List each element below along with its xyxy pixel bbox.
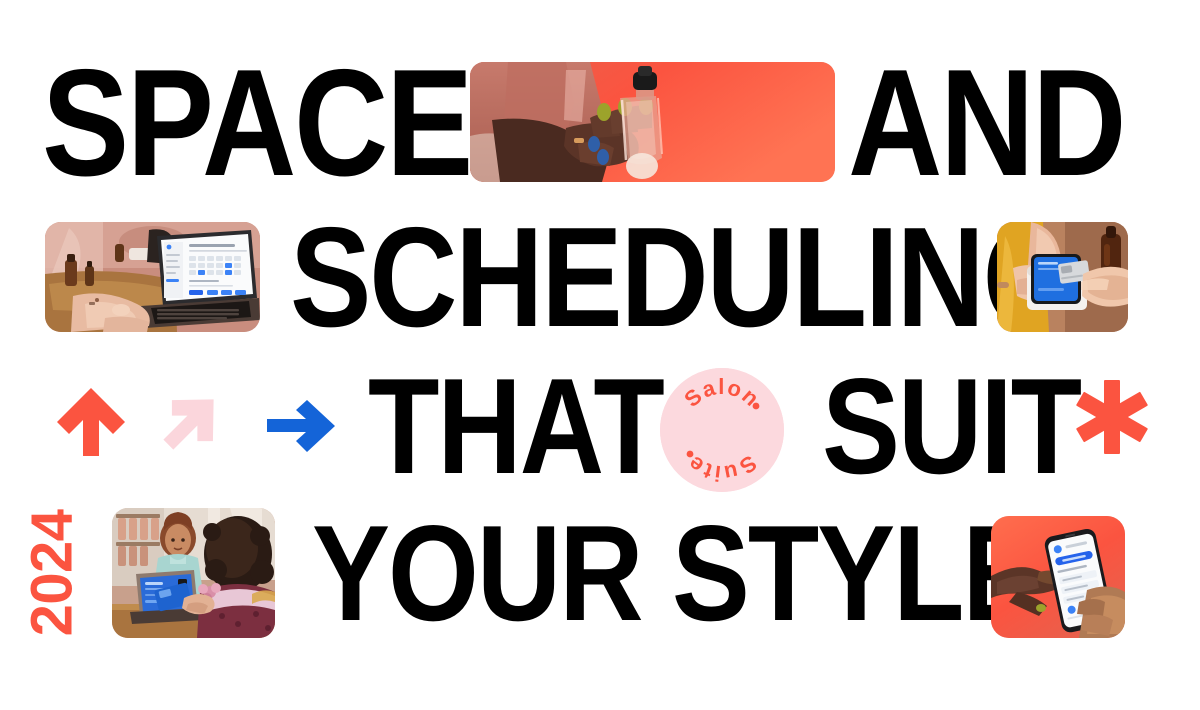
badge-dot-top (753, 403, 760, 410)
salon-suite-badge: Salon Suite (660, 368, 784, 492)
asterisk-icon (1073, 378, 1151, 456)
laptop-booking-photo (45, 222, 260, 332)
phone-app-photo (991, 516, 1125, 638)
poster-canvas: SPACES (0, 0, 1200, 710)
headline-line-1-tail: AND (848, 62, 1169, 184)
year-stamp: 2024 (28, 509, 76, 637)
arrow-diagonal-icon (152, 384, 230, 460)
headline-word-scheduling: SCHEDULING (290, 223, 1075, 334)
badge-dot-bottom (687, 451, 694, 458)
headline-word-your-style: YOUR STYLE (312, 520, 1038, 626)
headline-word-that: THAT (368, 373, 663, 479)
salon-checkout-photo (112, 508, 275, 638)
arrow-right-icon (265, 398, 337, 454)
year-label: 2024 (23, 510, 81, 637)
card-terminal-photo (997, 222, 1128, 332)
headline-word-and: AND (848, 64, 1124, 183)
dropper-bottle-photo (470, 62, 835, 182)
arrow-up-icon (55, 386, 127, 458)
headline-word-suit: SUIT (822, 373, 1080, 479)
